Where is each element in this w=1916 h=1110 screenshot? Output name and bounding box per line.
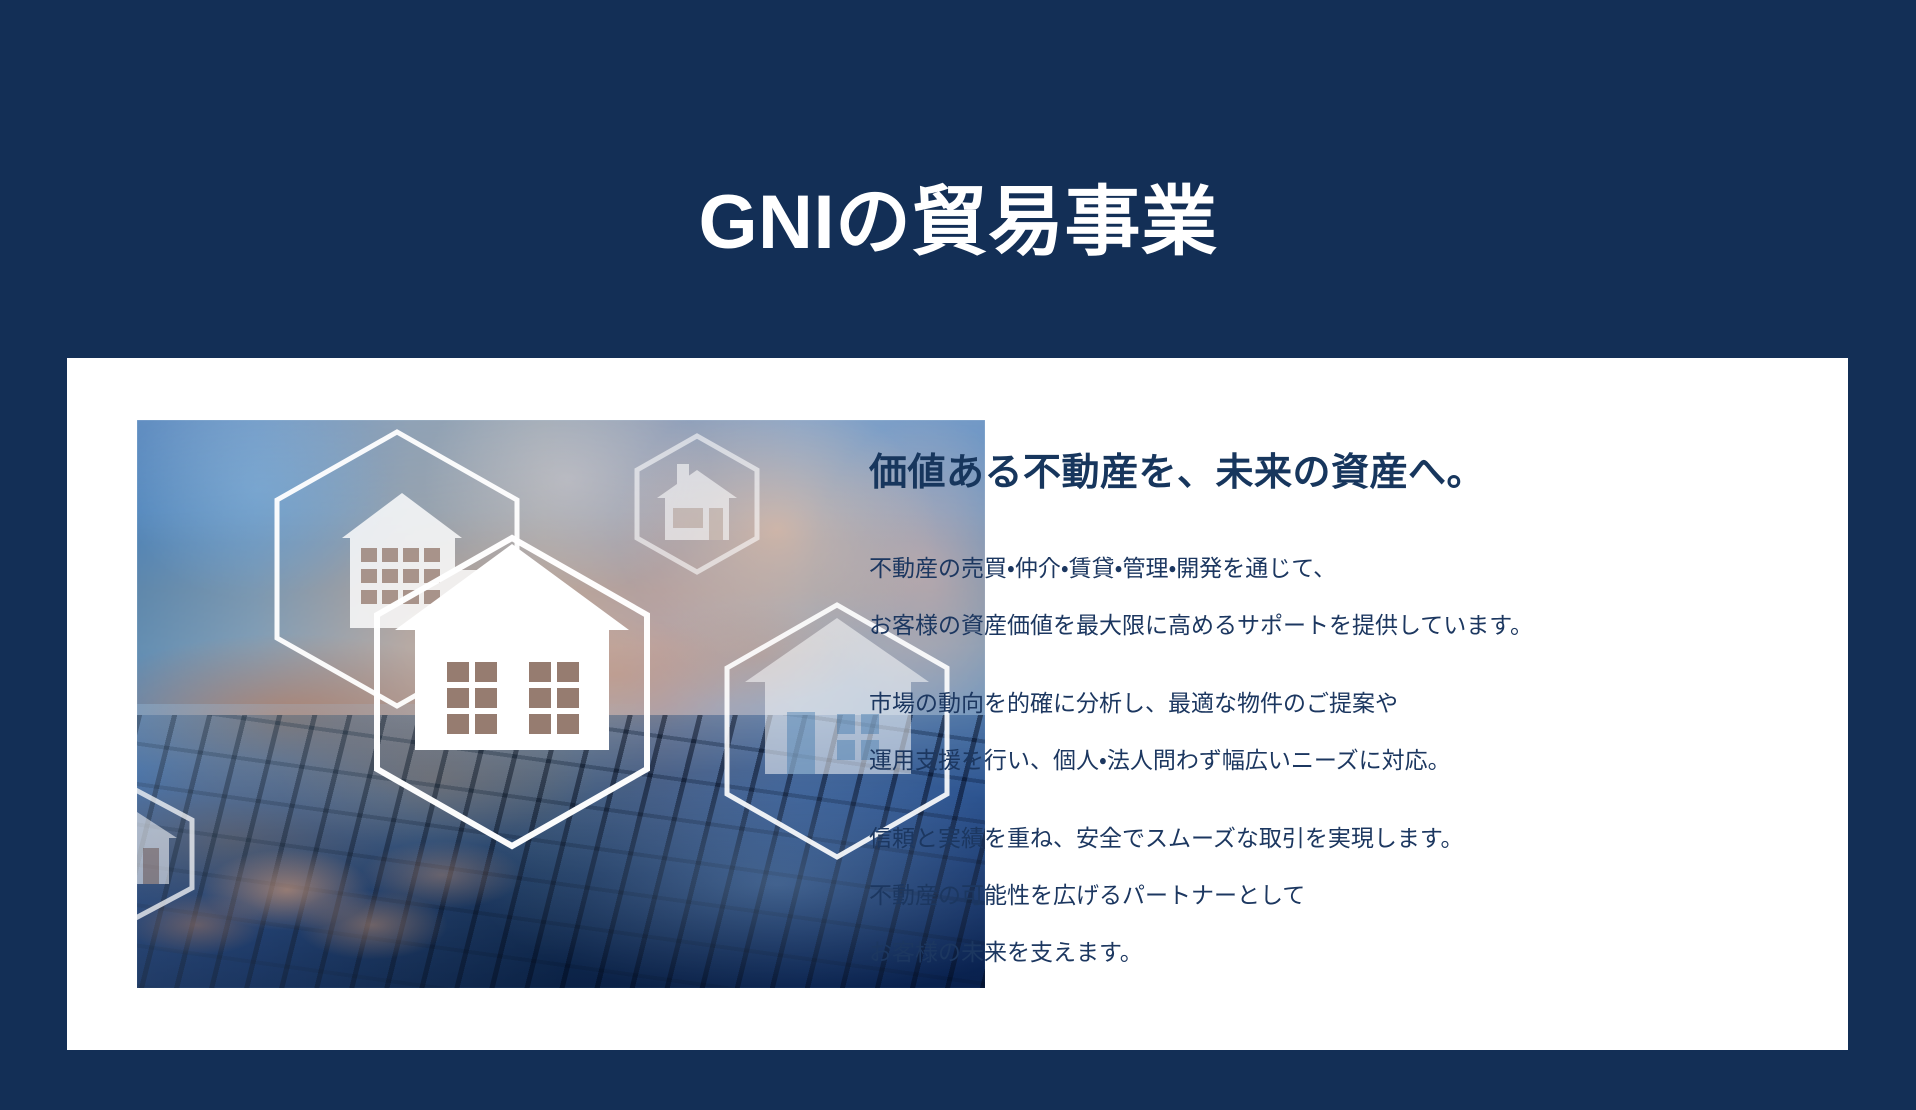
hexagon-house-corner-icon [137,788,192,920]
body-line: 信頼と実績を重ね、安全でスムーズな取引を実現します。 [869,827,1789,850]
body-paragraph-2: 市場の動向を的確に分析し、最適な物件のご提案や 運用支援を行い、個人・法人問わず… [869,692,1789,772]
body-paragraph-3: 信頼と実績を重ね、安全でスムーズな取引を実現します。 不動産の可能性を広げるパー… [869,827,1789,964]
hero-photo [137,420,985,988]
body-line: 市場の動向を的確に分析し、最適な物件のご提案や [869,692,1789,715]
hexagon-overlay-graphics [137,420,985,988]
body-line: 運用支援を行い、個人・法人問わず幅広いニーズに対応。 [869,749,1789,772]
slide-root: GNIの貿易事業 [0,0,1916,1110]
body-line: お客様の未来を支えます。 [869,941,1789,964]
body-line: 不動産の可能性を広げるパートナーとして [869,884,1789,907]
page-title: GNIの貿易事業 [0,183,1916,263]
content-card: 価値ある不動産を、未来の資産へ。 不動産の売買・仲介・賃貸・管理・開発を通じて、… [67,358,1848,1050]
body-line: お客様の資産価値を最大限に高めるサポートを提供しています。 [869,614,1789,637]
hexagon-house-small-icon [637,436,757,572]
body-paragraph-1: 不動産の売買・仲介・賃貸・管理・開発を通じて、 お客様の資産価値を最大限に高める… [869,557,1789,637]
text-column: 価値ある不動産を、未来の資産へ。 不動産の売買・仲介・賃貸・管理・開発を通じて、… [869,420,1789,964]
lead-heading: 価値ある不動産を、未来の資産へ。 [869,450,1789,498]
body-line: 不動産の売買・仲介・賃貸・管理・開発を通じて、 [869,557,1789,580]
